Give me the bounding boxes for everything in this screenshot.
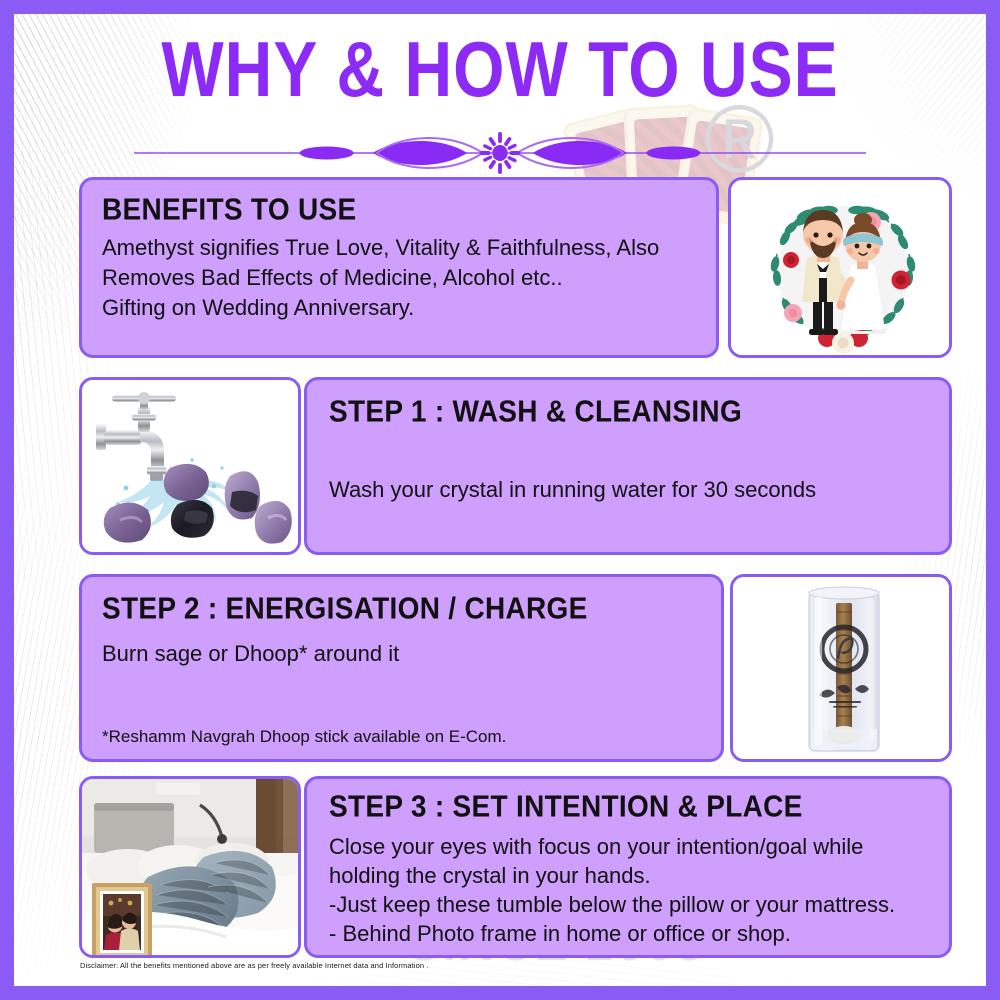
bed-pillows-photo-frame-photo <box>82 779 301 958</box>
step3-line-3: -Just keep these tumble below the pillow… <box>329 890 895 919</box>
step2-heading: STEP 2 : ENERGISATION / CHARGE <box>102 591 588 626</box>
step2-card: STEP 2 : ENERGISATION / CHARGE Burn sage… <box>79 574 724 762</box>
step3-heading: STEP 3 : SET INTENTION & PLACE <box>329 789 803 824</box>
benefits-line-1: Amethyst signifies True Love, Vitality &… <box>102 233 659 262</box>
step2-image-card <box>730 574 952 762</box>
wedding-couple-wreath-illustration <box>731 180 952 358</box>
benefits-card: BENEFITS TO USE Amethyst signifies True … <box>79 177 719 358</box>
benefits-line-3: Gifting on Wedding Anniversary. <box>102 293 414 322</box>
step1-card: STEP 1 : WASH & CLEANSING Wash your crys… <box>304 377 952 555</box>
benefits-heading: BENEFITS TO USE <box>102 192 356 227</box>
step3-line-1: Close your eyes with focus on your inten… <box>329 832 863 861</box>
page-title: WHY & HOW TO USE <box>14 30 986 108</box>
dhoop-stick-tube-photo <box>733 577 952 762</box>
benefits-line-2: Removes Bad Effects of Medicine, Alcohol… <box>102 263 563 292</box>
wedding-couple-image-card <box>728 177 952 358</box>
faucet-water-amethyst-tumbles-photo <box>82 380 301 555</box>
ornamental-divider <box>134 132 866 174</box>
step3-image-card <box>79 776 301 958</box>
step3-line-4: - Behind Photo frame in home or office o… <box>329 919 791 948</box>
step2-line-1: Burn sage or Dhoop* around it <box>102 639 399 668</box>
step1-image-card <box>79 377 301 555</box>
photo-frame <box>92 883 152 958</box>
infographic-page: ® SINCE 2008 WHY & HOW TO USE <box>0 0 1000 1000</box>
disclaimer-text: Disclaimer: All the benefits mentioned a… <box>80 961 429 970</box>
step1-line-1: Wash your crystal in running water for 3… <box>329 475 816 504</box>
step3-card: STEP 3 : SET INTENTION & PLACE Close you… <box>304 776 952 958</box>
step3-line-2: holding the crystal in your hands. <box>329 861 651 890</box>
step1-heading: STEP 1 : WASH & CLEANSING <box>329 394 742 429</box>
step2-footnote: *Reshamm Navgrah Dhoop stick available o… <box>102 727 506 747</box>
divider-svg <box>134 132 866 174</box>
